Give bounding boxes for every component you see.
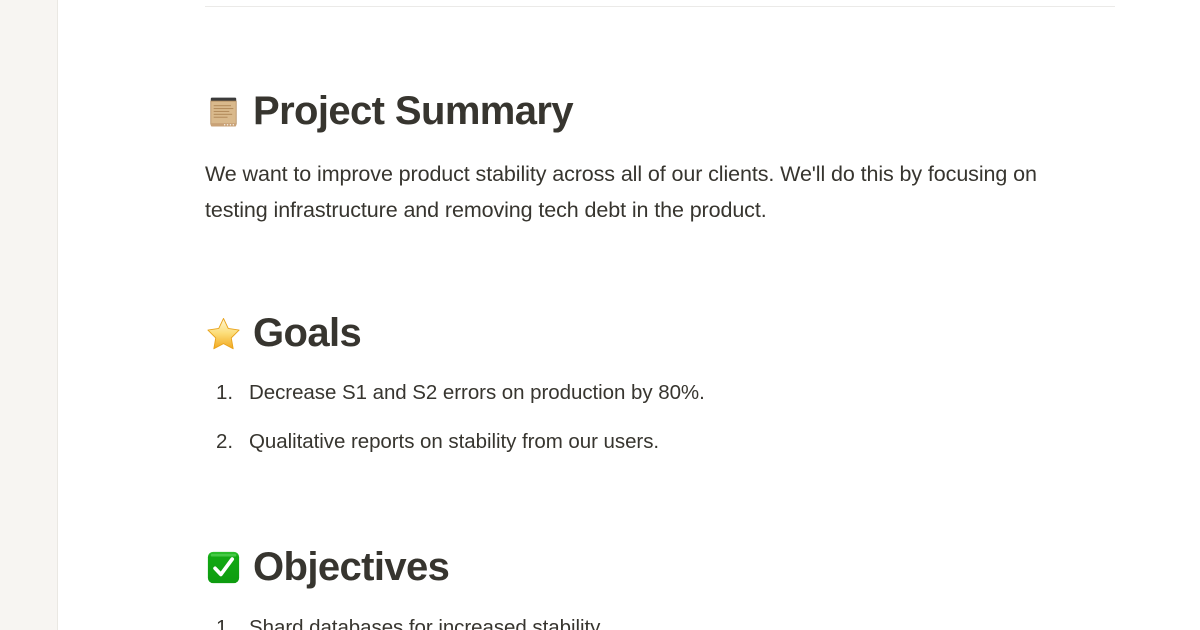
heading-objectives: Objectives [205, 544, 1125, 591]
document-body: Project Summary We want to improve produ… [205, 6, 1125, 630]
star-icon [205, 315, 242, 352]
list-marker: 1. [216, 614, 249, 630]
heading-text: Project Summary [253, 88, 573, 135]
scroll-icon [205, 93, 242, 130]
heading-project-summary: Project Summary [205, 88, 1125, 135]
app-window: Project Summary We want to improve produ… [0, 0, 1200, 630]
list-item: 2. Qualitative reports on stability from… [216, 428, 1125, 456]
sidebar-rail[interactable] [0, 0, 58, 630]
list-item-text: Qualitative reports on stability from ou… [249, 428, 1125, 456]
check-mark-button-icon [205, 549, 242, 586]
list-marker: 1. [216, 379, 249, 407]
document-content-area[interactable]: Project Summary We want to improve produ… [58, 0, 1200, 630]
list-marker: 2. [216, 428, 249, 456]
list-item-text: Decrease S1 and S2 errors on production … [249, 379, 1125, 407]
objectives-list: 1. Shard databases for increased stabili… [205, 614, 1125, 630]
heading-goals: Goals [205, 310, 1125, 357]
project-summary-paragraph: We want to improve product stability acr… [205, 156, 1057, 228]
heading-text: Objectives [253, 544, 449, 591]
document-page: Project Summary We want to improve produ… [58, 0, 1200, 630]
list-item-text: Shard databases for increased stability. [249, 614, 1125, 630]
heading-text: Goals [253, 310, 361, 357]
list-item: 1. Shard databases for increased stabili… [216, 614, 1125, 630]
goals-list: 1. Decrease S1 and S2 errors on producti… [205, 379, 1125, 456]
list-item: 1. Decrease S1 and S2 errors on producti… [216, 379, 1125, 407]
